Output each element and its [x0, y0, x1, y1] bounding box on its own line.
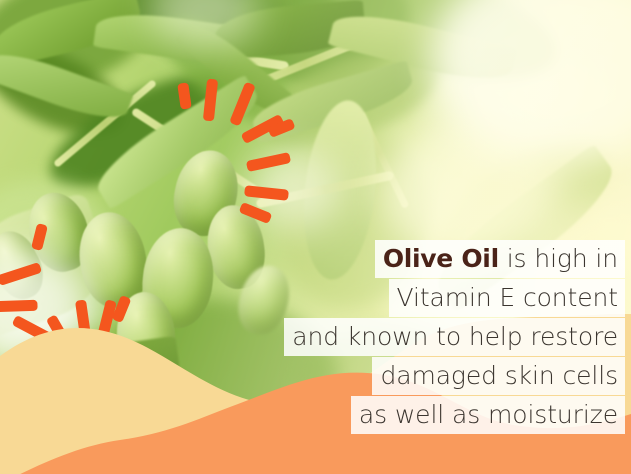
headline-line-1-rest: is high in	[499, 244, 618, 273]
headline-line-2: Vitamin E content	[389, 279, 625, 317]
poster-canvas: Olive Oil is high in Vitamin E content a…	[0, 0, 631, 474]
headline-line-3: and known to help restore	[284, 318, 625, 356]
headline-line-5: as well as moisturize	[351, 396, 625, 434]
headline-line-4: damaged skin cells	[372, 357, 625, 395]
headline-text-block: Olive Oil is high in Vitamin E content a…	[284, 240, 625, 434]
brand-name: Olive Oil	[383, 244, 499, 273]
burst-ray	[0, 300, 38, 313]
headline-line-1: Olive Oil is high in	[375, 240, 625, 278]
